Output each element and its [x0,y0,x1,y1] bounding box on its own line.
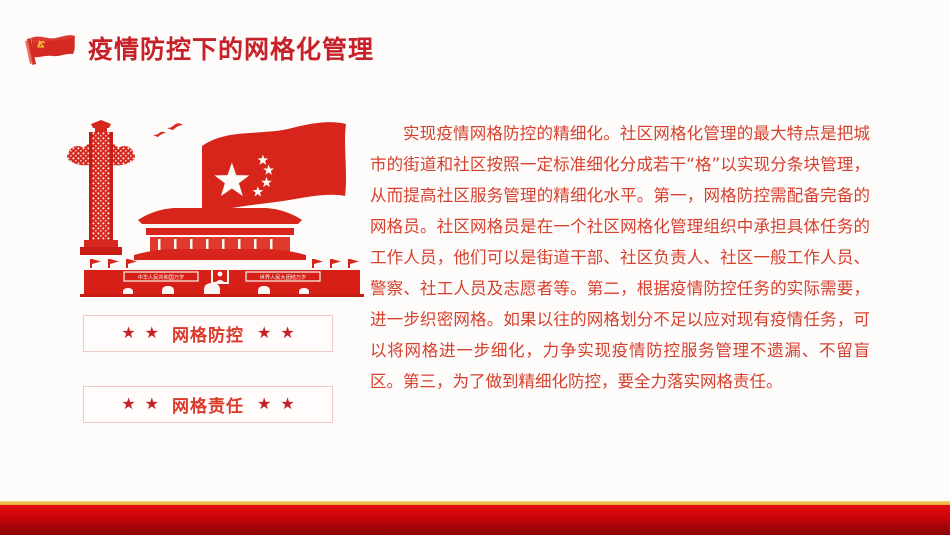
slide-canvas: 疫情防控下的网格化管理 [0,0,950,535]
tag-label: 网格责任 [172,392,244,417]
bottom-red-bar [0,505,950,535]
page-title: 疫情防控下的网格化管理 [88,38,374,63]
gate-slogan-left: 中华人民共和国万岁 [138,273,185,281]
slide-header: 疫情防控下的网格化管理 [0,24,950,76]
china-flag-icon [202,122,346,214]
body-paragraph: 实现疫情网格防控的精细化。社区网格化管理的最大特点是把城市的街道和社区按照一定标… [370,118,870,397]
tiananmen-illustration: 中华人民共和国万岁 世界人民大团结万岁 [62,102,382,297]
star-icon: ★ [145,326,159,342]
star-icon: ★ [145,397,159,413]
star-icon: ★ [280,326,294,342]
party-flag-icon [22,30,78,70]
birds-icon [153,123,183,137]
tag-label: 网格防控 [172,321,244,346]
star-icon: ★ [280,397,294,413]
tag-box-grid-responsibility[interactable]: ★ ★ 网格责任 ★ ★ [83,386,333,423]
star-icon: ★ [121,326,135,342]
huabiao-column [67,120,135,255]
tag-box-grid-prevention[interactable]: ★ ★ 网格防控 ★ ★ [83,315,333,352]
star-icon: ★ [257,397,271,413]
star-icon: ★ [121,397,135,413]
gate-slogan-right: 世界人民大团结万岁 [260,273,307,281]
tiananmen-gate: 中华人民共和国万岁 世界人民大团结万岁 [80,208,364,297]
star-icon: ★ [257,326,271,342]
